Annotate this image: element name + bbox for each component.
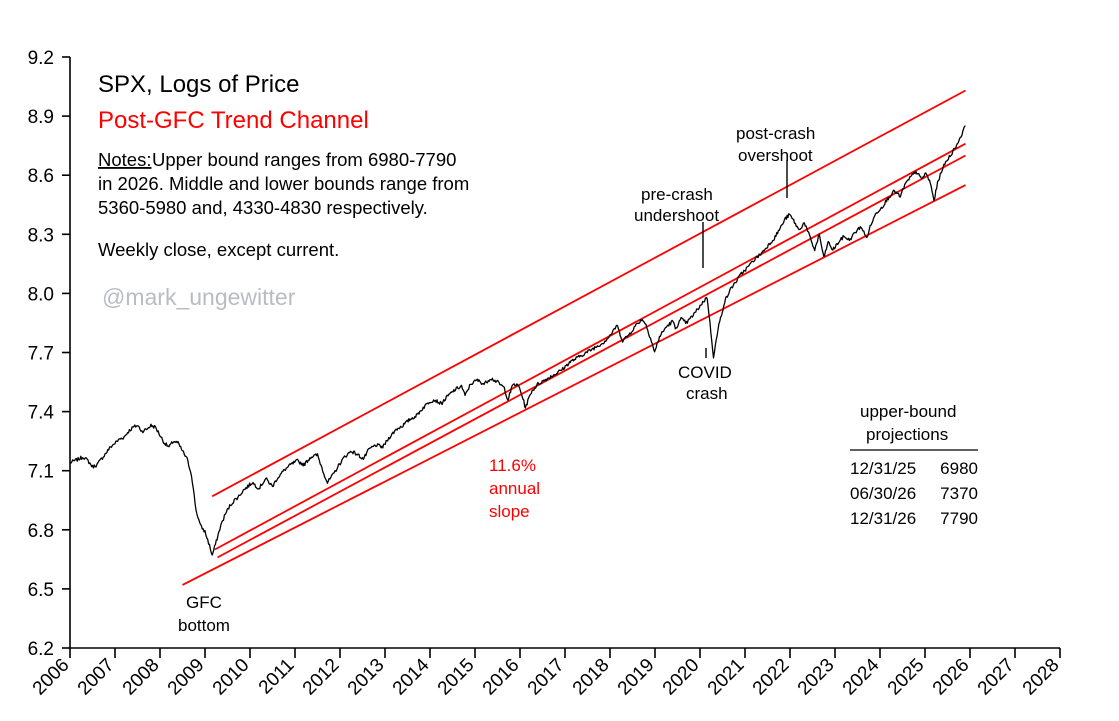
projection-row-value: 7790 <box>940 509 978 528</box>
projection-table-header-line1: upper-bound <box>860 402 956 421</box>
projection-row-date: 12/31/26 <box>850 509 916 528</box>
x-tick-label: 2016 <box>479 655 524 700</box>
notes-line1: Upper bound ranges from 6980-7790 <box>152 149 456 170</box>
x-tick-label: 2017 <box>524 655 569 700</box>
x-tick-label: 2015 <box>434 655 479 700</box>
x-tick-label: 2023 <box>794 655 839 700</box>
x-tick-label: 2012 <box>299 655 344 700</box>
notes-line3: 5360-5980 and, 4330-4830 respectively. <box>98 197 428 218</box>
notes-line4: Weekly close, except current. <box>98 239 339 260</box>
y-tick-label: 6.5 <box>28 580 54 601</box>
x-tick-label: 2006 <box>29 655 74 700</box>
post-crash-label-line1: post-crash <box>736 124 815 143</box>
y-tick-label: 8.0 <box>28 284 54 305</box>
x-tick-label: 2026 <box>929 655 974 700</box>
projection-table-rows: 12/31/25698006/30/26737012/31/267790 <box>850 459 978 528</box>
gfc-bottom-label-line1: GFC <box>186 593 222 612</box>
gfc-bottom-label-line2: bottom <box>178 616 230 635</box>
annotation-gfc-bottom: GFC bottom <box>178 593 230 635</box>
x-tick-label: 2019 <box>614 655 659 700</box>
x-tick-label: 2022 <box>749 655 794 700</box>
chart-title-line1: SPX, Logs of Price <box>98 71 299 98</box>
y-tick-label: 7.7 <box>28 344 54 365</box>
covid-label-line2: crash <box>686 384 728 403</box>
projection-row-value: 6980 <box>940 459 978 478</box>
x-tick-label: 2009 <box>164 655 209 700</box>
x-tick-label: 2025 <box>884 655 929 700</box>
x-tick-label: 2020 <box>659 655 704 700</box>
y-tick-label: 8.9 <box>28 107 54 128</box>
y-axis-ticks: 9.28.98.68.38.07.77.47.16.86.56.2 <box>28 48 70 660</box>
slope-label-line3: slope <box>489 502 530 521</box>
y-tick-label: 7.4 <box>28 403 55 424</box>
y-tick-label: 6.8 <box>28 521 54 542</box>
slope-label-line1: 11.6% <box>489 456 536 475</box>
y-tick-label: 8.6 <box>28 166 54 187</box>
chart-page: 9.28.98.68.38.07.77.47.16.86.56.2 200620… <box>0 0 1119 721</box>
spx-trend-channel-chart: 9.28.98.68.38.07.77.47.16.86.56.2 200620… <box>0 0 1119 721</box>
projection-row-date: 12/31/25 <box>850 459 916 478</box>
chart-title-line2: Post-GFC Trend Channel <box>98 107 369 134</box>
y-tick-label: 6.2 <box>28 639 54 660</box>
slope-label-line2: annual <box>489 479 540 498</box>
x-tick-label: 2010 <box>209 655 254 700</box>
x-tick-label: 2028 <box>1019 655 1064 700</box>
x-tick-label: 2027 <box>974 655 1019 700</box>
projection-table: upper-bound projections 12/31/25698006/3… <box>850 402 978 528</box>
post-crash-label-line2: overshoot <box>738 146 813 165</box>
projection-row-value: 7370 <box>940 484 978 503</box>
y-tick-label: 7.1 <box>28 462 54 483</box>
x-tick-label: 2024 <box>839 654 884 699</box>
notes-block: Notes: Upper bound ranges from 6980-7790… <box>98 149 469 260</box>
annotation-covid-crash: COVID crash <box>678 348 732 403</box>
axes <box>70 57 1060 648</box>
x-axis-ticks: 2006200720082009201020112012201320142015… <box>29 648 1064 699</box>
pre-crash-label-line2: undershoot <box>634 206 719 225</box>
x-tick-label: 2014 <box>389 654 434 699</box>
covid-label-line1: COVID <box>678 363 732 382</box>
pre-crash-label-line1: pre-crash <box>641 185 713 204</box>
x-tick-label: 2021 <box>704 655 749 700</box>
notes-line2: in 2026. Middle and lower bounds range f… <box>98 173 469 194</box>
x-tick-label: 2007 <box>74 655 119 700</box>
projection-row-date: 06/30/26 <box>850 484 916 503</box>
annotation-annual-slope: 11.6% annual slope <box>489 456 540 521</box>
watermark: @mark_ungewitter <box>102 284 296 310</box>
y-tick-label: 8.3 <box>28 225 54 246</box>
x-tick-label: 2018 <box>569 655 614 700</box>
x-tick-label: 2008 <box>119 655 164 700</box>
annotation-pre-crash-undershoot: pre-crash undershoot <box>634 185 719 268</box>
x-tick-label: 2013 <box>344 655 389 700</box>
x-tick-label: 2011 <box>255 655 299 699</box>
annotation-post-crash-overshoot: post-crash overshoot <box>736 124 815 198</box>
y-tick-label: 9.2 <box>28 48 54 69</box>
notes-label: Notes: <box>98 149 151 170</box>
projection-table-header-line2: projections <box>866 425 948 444</box>
